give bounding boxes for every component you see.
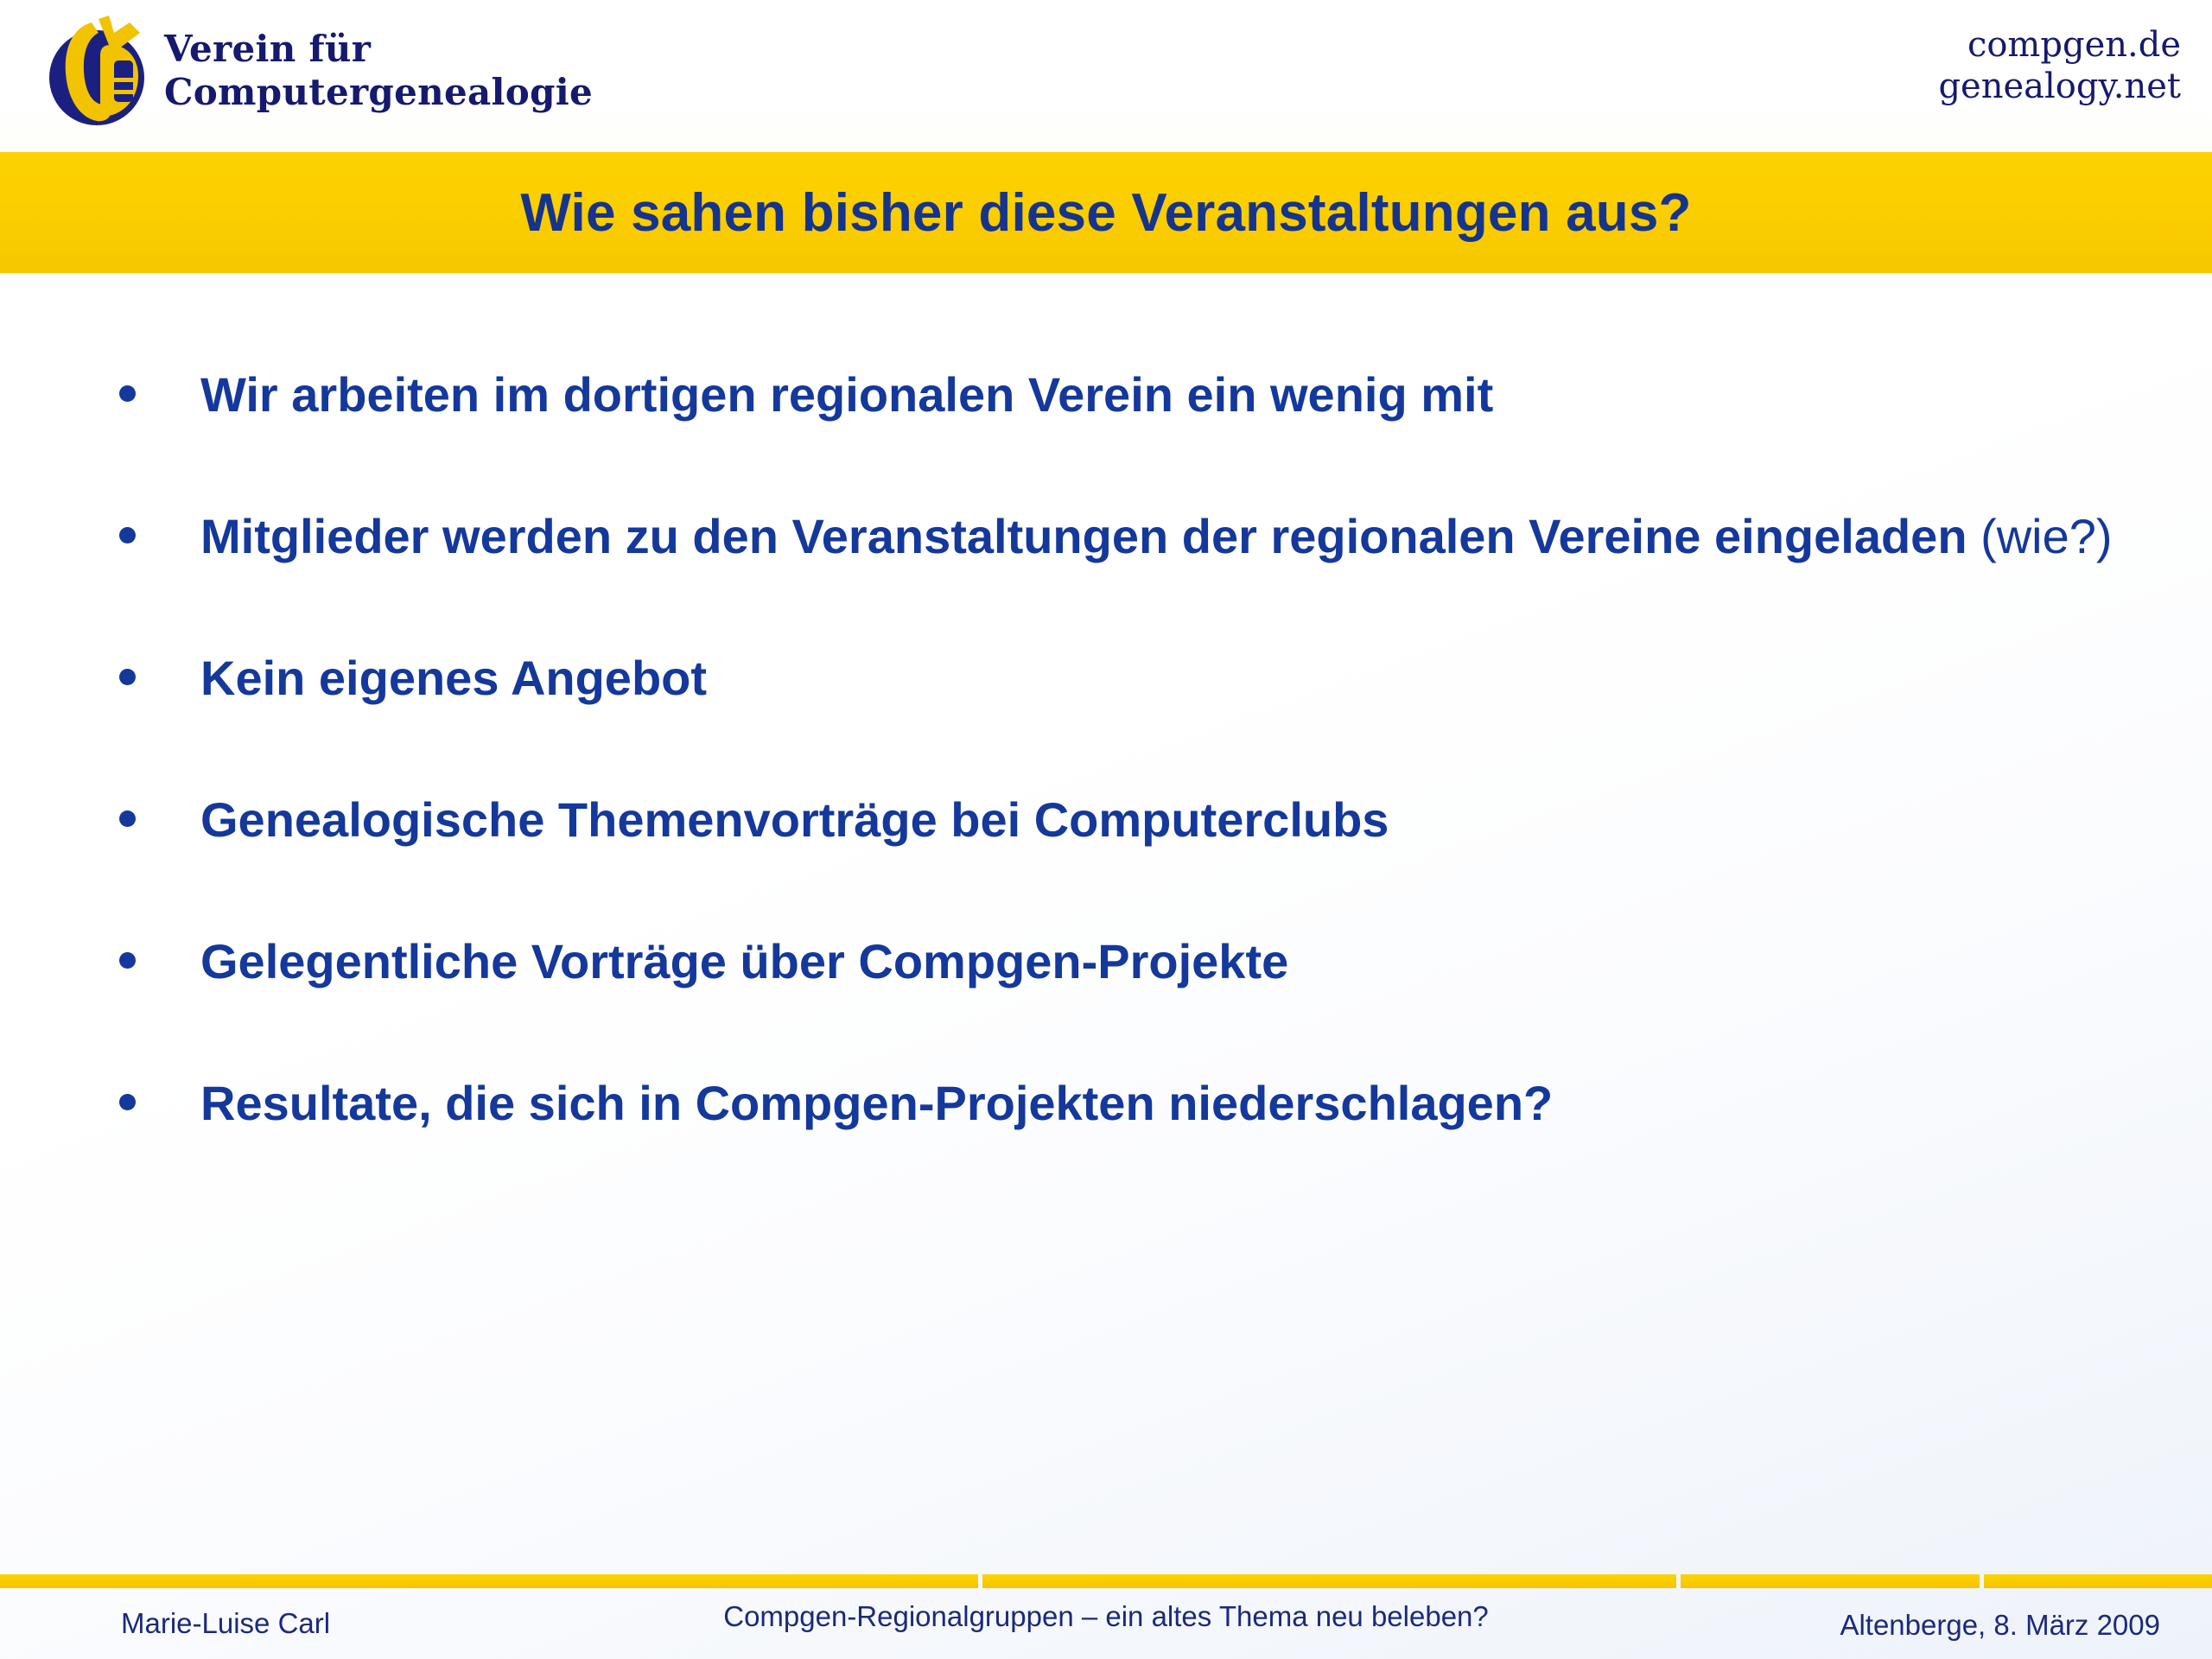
- list-item: Wir arbeiten im dortigen regionalen Vere…: [0, 363, 2212, 427]
- compgen-logo: [35, 7, 164, 137]
- compgen-cg-monogram-icon: [35, 7, 164, 137]
- slide-title: Wie sahen bisher diese Veranstaltungen a…: [520, 182, 1691, 244]
- list-item: Gelegentliche Vorträge über Compgen-Proj…: [0, 930, 2212, 994]
- bullet-text: Genealogische Themenvorträge bei Compute…: [200, 792, 1389, 847]
- list-item: Genealogische Themenvorträge bei Compute…: [0, 788, 2212, 852]
- slide-footer: Marie-Luise Carl Compgen-Regionalgruppen…: [0, 1597, 2212, 1659]
- bullet-dot-icon: [119, 527, 136, 543]
- footer-author: Marie-Luise Carl: [121, 1607, 330, 1640]
- bullet-text: Gelegentliche Vorträge über Compgen-Proj…: [200, 934, 1288, 988]
- bullet-main: Mitglieder werden zu den Veranstaltungen…: [200, 509, 1980, 563]
- website-links: compgen.de genealogy.net: [1938, 24, 2181, 107]
- bullet-tail: (wie?): [1980, 509, 2112, 563]
- list-item: Mitglieder werden zu den Veranstaltungen…: [0, 505, 2212, 569]
- slide-header: Verein für Computergenealogie compgen.de…: [0, 0, 2212, 152]
- footer-divider-segment: [1681, 1574, 1979, 1588]
- footer-place-date: Altenberge, 8. März 2009: [1840, 1609, 2160, 1642]
- bullet-dot-icon: [119, 669, 136, 685]
- org-name-line1: Verein für: [164, 28, 593, 71]
- bullet-text: Kein eigenes Angebot: [200, 651, 707, 705]
- bullet-main: Resultate, die sich in Compgen-Projekten…: [200, 1076, 1553, 1130]
- bullet-text: Wir arbeiten im dortigen regionalen Vere…: [200, 367, 1493, 422]
- bullet-dot-icon: [119, 385, 136, 402]
- footer-divider: [0, 1574, 2212, 1588]
- list-item: Resultate, die sich in Compgen-Projekten…: [0, 1071, 2212, 1135]
- bullet-main: Kein eigenes Angebot: [200, 651, 707, 705]
- footer-subject: Compgen-Regionalgruppen – ein altes Them…: [723, 1600, 1489, 1633]
- title-banner: Wie sahen bisher diese Veranstaltungen a…: [0, 152, 2212, 273]
- bullet-main: Genealogische Themenvorträge bei Compute…: [200, 792, 1389, 847]
- site-link-genealogy: genealogy.net: [1938, 66, 2181, 107]
- bullet-main: Gelegentliche Vorträge über Compgen-Proj…: [200, 934, 1288, 988]
- slide-canvas: Verein für Computergenealogie compgen.de…: [0, 0, 2212, 1659]
- bullet-dot-icon: [119, 810, 136, 827]
- bullet-text: Resultate, die sich in Compgen-Projekten…: [200, 1076, 1553, 1130]
- footer-divider-segment: [982, 1574, 1676, 1588]
- site-link-compgen: compgen.de: [1938, 24, 2181, 66]
- list-item: Kein eigenes Angebot: [0, 646, 2212, 710]
- bullet-dot-icon: [119, 1094, 136, 1110]
- org-name-line2: Computergenealogie: [164, 71, 593, 114]
- bullet-dot-icon: [119, 952, 136, 969]
- footer-divider-segment: [1984, 1574, 2212, 1588]
- bullet-text: Mitglieder werden zu den Veranstaltungen…: [200, 509, 2113, 563]
- bullet-main: Wir arbeiten im dortigen regionalen Vere…: [200, 367, 1493, 422]
- bullet-list: Wir arbeiten im dortigen regionalen Vere…: [0, 363, 2212, 1212]
- footer-divider-segment: [0, 1574, 978, 1588]
- organization-name: Verein für Computergenealogie: [164, 28, 593, 113]
